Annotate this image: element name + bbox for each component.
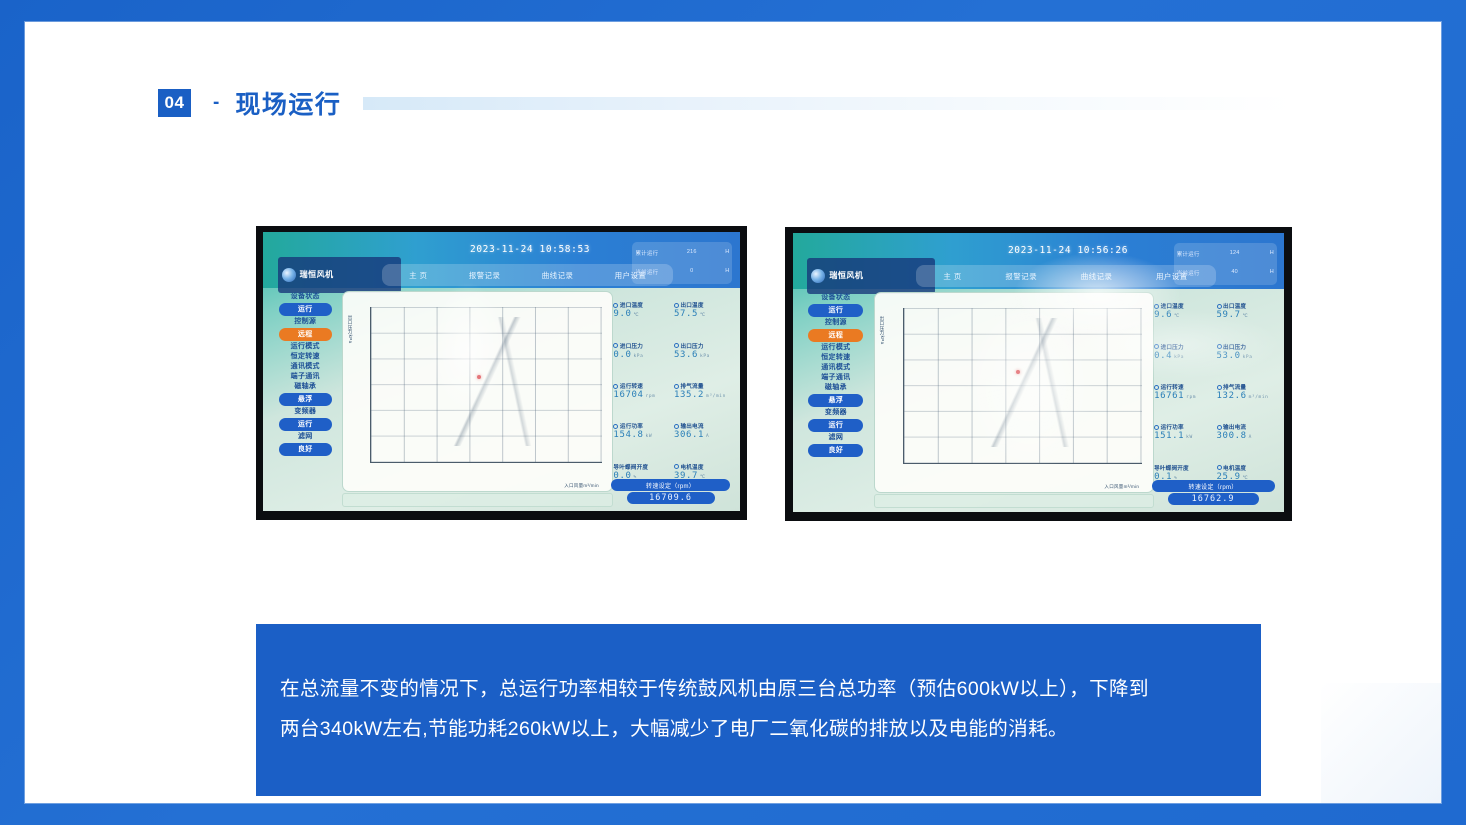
readout-current: 输出电流 300.8A bbox=[1217, 413, 1277, 452]
hmi-readouts-a: 进口温度 9.0℃ 出口温度 57.5℃ 进口压力 0.0kPa 出口压力 53… bbox=[613, 291, 732, 492]
readout-flow: 排气流量 135.2m³/min bbox=[674, 371, 733, 410]
nav-item-home[interactable]: 主 页 bbox=[943, 271, 961, 282]
status-value-device: 运行 bbox=[279, 303, 332, 316]
readout-label: 进口压力 bbox=[620, 342, 643, 350]
fan-icon bbox=[674, 384, 679, 389]
readout-label: 排气流量 bbox=[680, 382, 703, 390]
readout-unit: kPa bbox=[1243, 355, 1253, 360]
readout-label: 运行转速 bbox=[1161, 383, 1184, 391]
power-icon bbox=[1154, 425, 1159, 430]
status-value-filter: 良好 bbox=[808, 444, 863, 457]
counter-current-runtime: 当前运行 40 H bbox=[1177, 269, 1274, 277]
readout-value: 59.7 bbox=[1217, 310, 1241, 320]
readout-label: 进口温度 bbox=[620, 301, 643, 309]
readout-outlet-temp: 出口温度 59.7℃ bbox=[1217, 292, 1277, 331]
counter-label: 当前运行 bbox=[1177, 269, 1200, 277]
hmi-footer-bar-b bbox=[874, 494, 1154, 508]
operating-point-marker bbox=[1016, 370, 1020, 374]
setpoint-value[interactable]: 16709.6 bbox=[627, 492, 715, 504]
readout-unit: kW bbox=[646, 434, 653, 439]
readout-value: 135.2 bbox=[674, 390, 704, 400]
brand-logo-icon bbox=[811, 269, 825, 283]
readout-current: 输出电流 306.1A bbox=[674, 412, 733, 451]
status-label-run-mode: 运行模式 bbox=[821, 344, 850, 352]
slide-page: 04 - 现场运行 瑞恒风机 2023-11-24 10:58:53 主 页 报… bbox=[25, 22, 1441, 803]
readout-power: 运行功率 151.1kW bbox=[1154, 413, 1214, 452]
readout-value: 306.1 bbox=[674, 430, 704, 440]
readout-inlet-pressure: 进口压力 0.0kPa bbox=[613, 331, 672, 370]
chart-grid bbox=[370, 307, 602, 462]
readout-value: 16761 bbox=[1154, 391, 1184, 401]
status-value-comm-mode: 端子通讯 bbox=[821, 374, 850, 382]
hmi-nav-b: 主 页 报警记录 曲线记录 用户设置 bbox=[916, 265, 1216, 287]
readout-unit: m³/min bbox=[706, 394, 726, 399]
operating-point-marker bbox=[477, 375, 481, 379]
counter-unit: H bbox=[1270, 269, 1274, 277]
counter-total-runtime: 累计运行 124 H bbox=[1177, 250, 1274, 258]
section-number-badge: 04 bbox=[158, 89, 191, 117]
readout-label: 运行功率 bbox=[1161, 423, 1184, 431]
readout-label: 出口压力 bbox=[680, 342, 703, 350]
hmi-readouts-b: 进口温度 9.6℃ 出口温度 59.7℃ 进口压力 0.4kPa 出口压力 53… bbox=[1154, 292, 1277, 493]
hmi-clock-b: 2023-11-24 10:56:26 bbox=[960, 245, 1176, 256]
readout-speed: 运行转速 16704rpm bbox=[613, 371, 672, 410]
performance-chart-a[interactable]: 出口压力kPa 入口风量m³/min bbox=[342, 291, 613, 492]
counter-total-runtime: 累计运行 216 H bbox=[635, 249, 729, 257]
hmi-clock-a: 2023-11-24 10:58:53 bbox=[425, 244, 635, 255]
readout-unit: rpm bbox=[646, 394, 656, 399]
status-label-inverter: 变频器 bbox=[825, 409, 847, 417]
brand-name: 瑞恒风机 bbox=[300, 271, 334, 279]
readout-inlet-temp: 进口温度 9.6℃ bbox=[1154, 292, 1214, 331]
readout-unit: kPa bbox=[1174, 355, 1184, 360]
brand-logo-icon bbox=[282, 268, 296, 282]
readout-unit: ℃ bbox=[1174, 314, 1180, 319]
status-label-run-mode: 运行模式 bbox=[291, 343, 320, 351]
motor-icon bbox=[1217, 465, 1222, 470]
hmi-footer-bar-a bbox=[342, 493, 613, 507]
readout-value: 53.6 bbox=[674, 350, 698, 360]
thermometer-icon bbox=[674, 303, 679, 308]
hmi-status-rail-a: 设备状态 运行 控制源 远程 运行模式 恒定转速 通讯模式 端子通讯 磁轴承 悬… bbox=[274, 291, 336, 492]
readout-unit: ℃ bbox=[700, 313, 706, 318]
readout-value: 132.6 bbox=[1217, 391, 1247, 401]
thermometer-icon bbox=[613, 303, 618, 308]
nav-item-home[interactable]: 主 页 bbox=[409, 270, 427, 281]
hmi-nav-a: 主 页 报警记录 曲线记录 用户设置 bbox=[382, 264, 673, 286]
status-value-device: 运行 bbox=[808, 304, 863, 317]
hmi-screen-a: 瑞恒风机 2023-11-24 10:58:53 主 页 报警记录 曲线记录 用… bbox=[263, 232, 739, 511]
status-value-bearing: 悬浮 bbox=[279, 393, 332, 406]
counter-value: 216 bbox=[687, 249, 697, 257]
readout-inlet-temp: 进口温度 9.0℃ bbox=[613, 291, 672, 330]
status-label-comm-mode: 通讯模式 bbox=[291, 363, 320, 371]
readout-label: 进口压力 bbox=[1161, 343, 1184, 351]
status-label-filter: 滤网 bbox=[298, 433, 313, 441]
readout-unit: ℃ bbox=[1243, 314, 1249, 319]
readout-unit: kW bbox=[1186, 435, 1193, 440]
readout-unit: m³/min bbox=[1249, 395, 1269, 400]
readout-label: 排气流量 bbox=[1223, 383, 1246, 391]
counter-unit: H bbox=[725, 268, 729, 276]
status-label-inverter: 变频器 bbox=[294, 408, 316, 416]
status-label-filter: 滤网 bbox=[829, 434, 844, 442]
readout-label: 电机温度 bbox=[680, 463, 703, 471]
gauge-icon bbox=[1154, 344, 1159, 349]
readout-label: 导叶蝶阀开度 bbox=[1154, 464, 1189, 472]
counter-value: 0 bbox=[690, 268, 693, 276]
readout-unit: kPa bbox=[700, 354, 710, 359]
photo-panel-a: 瑞恒风机 2023-11-24 10:58:53 主 页 报警记录 曲线记录 用… bbox=[256, 226, 747, 520]
readout-label: 电机温度 bbox=[1223, 464, 1246, 472]
caption-line-1: 在总流量不变的情况下，总运行功率相较于传统鼓风机由原三台总功率（预估600kW以… bbox=[280, 670, 1237, 710]
nav-item-alarm-log[interactable]: 报警记录 bbox=[469, 270, 501, 281]
readout-value: 154.8 bbox=[613, 430, 643, 440]
status-value-run-mode: 恒定转速 bbox=[291, 353, 320, 361]
status-label-device: 设备状态 bbox=[291, 293, 320, 301]
status-label-bearing: 磁轴承 bbox=[825, 384, 847, 392]
counter-label: 累计运行 bbox=[1177, 250, 1200, 258]
readout-unit: A bbox=[706, 434, 709, 439]
readout-flow: 排气流量 132.6m³/min bbox=[1217, 372, 1277, 411]
speed-setpoint-a[interactable]: 转速设定（rpm） 16709.6 bbox=[611, 479, 730, 504]
status-value-filter: 良好 bbox=[279, 443, 332, 456]
readout-value: 9.6 bbox=[1154, 310, 1172, 320]
performance-chart-b[interactable]: 出口压力kPa 入口风量m³/min bbox=[874, 292, 1154, 493]
readout-speed: 运行转速 16761rpm bbox=[1154, 372, 1214, 411]
readout-unit: rpm bbox=[1186, 395, 1196, 400]
motor-icon bbox=[674, 464, 679, 469]
readout-unit: ℃ bbox=[633, 313, 639, 318]
chart-x-axis-title: 入口风量m³/min bbox=[1104, 484, 1139, 490]
counter-label: 累计运行 bbox=[635, 249, 658, 257]
speedometer-icon bbox=[1154, 385, 1159, 390]
hmi-screen-b: 瑞恒风机 2023-11-24 10:56:26 主 页 报警记录 曲线记录 用… bbox=[793, 233, 1285, 512]
readout-value: 16704 bbox=[613, 390, 643, 400]
thermometer-icon bbox=[1154, 304, 1159, 309]
title-decoration-bar bbox=[363, 97, 1293, 110]
readout-value: 0.0 bbox=[613, 350, 631, 360]
chart-y-axis-title: 出口压力kPa bbox=[879, 316, 885, 345]
thermometer-icon bbox=[1217, 304, 1222, 309]
counter-label: 当前运行 bbox=[635, 268, 658, 276]
readout-outlet-pressure: 出口压力 53.0kPa bbox=[1217, 332, 1277, 371]
readout-value: 300.8 bbox=[1217, 431, 1247, 441]
readout-label: 运行功率 bbox=[620, 422, 643, 430]
status-value-control-source: 远程 bbox=[279, 328, 332, 341]
readout-label: 出口压力 bbox=[1223, 343, 1246, 351]
setpoint-value[interactable]: 16762.9 bbox=[1168, 493, 1259, 505]
status-value-control-source: 远程 bbox=[808, 329, 863, 342]
chart-grid bbox=[903, 308, 1142, 463]
readout-label: 出口温度 bbox=[1223, 302, 1246, 310]
counter-unit: H bbox=[725, 249, 729, 257]
brand-name: 瑞恒风机 bbox=[829, 272, 863, 280]
page-title-row: 04 - 现场运行 bbox=[158, 84, 1293, 122]
photo-panel-b: 瑞恒风机 2023-11-24 10:56:26 主 页 报警记录 曲线记录 用… bbox=[785, 227, 1292, 521]
nav-item-alarm-log[interactable]: 报警记录 bbox=[1005, 271, 1037, 282]
hmi-counters-b: 累计运行 124 H 当前运行 40 H bbox=[1174, 243, 1277, 285]
readout-value: 9.0 bbox=[613, 309, 631, 319]
speedometer-icon bbox=[613, 384, 618, 389]
counter-value: 40 bbox=[1231, 269, 1238, 277]
readout-label: 输出电流 bbox=[1223, 423, 1246, 431]
current-icon bbox=[674, 424, 679, 429]
status-label-device: 设备状态 bbox=[821, 294, 850, 302]
nav-item-curve-log[interactable]: 曲线记录 bbox=[542, 270, 574, 281]
readout-unit: kPa bbox=[633, 354, 643, 359]
status-label-comm-mode: 通讯模式 bbox=[821, 364, 850, 372]
power-icon bbox=[613, 424, 618, 429]
gauge-icon bbox=[1217, 344, 1222, 349]
nav-item-curve-log[interactable]: 曲线记录 bbox=[1081, 271, 1113, 282]
readout-label: 运行转速 bbox=[620, 382, 643, 390]
readout-label: 出口温度 bbox=[680, 301, 703, 309]
counter-value: 124 bbox=[1230, 250, 1240, 258]
readout-label: 导叶蝶阀开度 bbox=[613, 463, 648, 471]
chart-y-axis-title: 出口压力kPa bbox=[347, 315, 353, 344]
hmi-status-rail-b: 设备状态 运行 控制源 远程 运行模式 恒定转速 通讯模式 端子通讯 磁轴承 悬… bbox=[804, 292, 868, 493]
status-label-control-source: 控制源 bbox=[825, 319, 847, 327]
chart-x-axis-title: 入口风量m³/min bbox=[564, 483, 599, 489]
counter-unit: H bbox=[1270, 250, 1274, 258]
gauge-icon bbox=[613, 343, 618, 348]
status-label-bearing: 磁轴承 bbox=[294, 383, 316, 391]
setpoint-label: 转速设定（rpm） bbox=[1152, 480, 1275, 492]
speed-setpoint-b[interactable]: 转速设定（rpm） 16762.9 bbox=[1152, 480, 1275, 505]
readout-label: 输出电流 bbox=[680, 422, 703, 430]
status-value-comm-mode: 端子通讯 bbox=[291, 373, 320, 381]
readout-value: 57.5 bbox=[674, 309, 698, 319]
title-dash: - bbox=[213, 92, 219, 114]
current-icon bbox=[1217, 425, 1222, 430]
readout-label: 进口温度 bbox=[1161, 302, 1184, 310]
readout-outlet-temp: 出口温度 57.5℃ bbox=[674, 291, 733, 330]
page-title: 现场运行 bbox=[235, 85, 341, 121]
status-label-control-source: 控制源 bbox=[294, 318, 316, 326]
status-value-inverter: 运行 bbox=[808, 419, 863, 432]
readout-outlet-pressure: 出口压力 53.6kPa bbox=[674, 331, 733, 370]
counter-current-runtime: 当前运行 0 H bbox=[635, 268, 729, 276]
readout-value: 53.0 bbox=[1217, 351, 1241, 361]
readout-value: 0.4 bbox=[1154, 351, 1172, 361]
readout-power: 运行功率 154.8kW bbox=[613, 412, 672, 451]
caption-line-2: 两台340kW左右,节能功耗260kW以上，大幅减少了电厂二氧化碳的排放以及电能… bbox=[280, 710, 1237, 750]
readout-value: 151.1 bbox=[1154, 431, 1184, 441]
caption-box: 在总流量不变的情况下，总运行功率相较于传统鼓风机由原三台总功率（预估600kW以… bbox=[256, 624, 1261, 796]
status-value-run-mode: 恒定转速 bbox=[821, 354, 850, 362]
hmi-counters-a: 累计运行 216 H 当前运行 0 H bbox=[632, 242, 732, 284]
status-value-inverter: 运行 bbox=[279, 418, 332, 431]
readout-inlet-pressure: 进口压力 0.4kPa bbox=[1154, 332, 1214, 371]
status-value-bearing: 悬浮 bbox=[808, 394, 863, 407]
fan-icon bbox=[1217, 385, 1222, 390]
gauge-icon bbox=[674, 343, 679, 348]
readout-unit: A bbox=[1249, 435, 1252, 440]
setpoint-label: 转速设定（rpm） bbox=[611, 479, 730, 491]
